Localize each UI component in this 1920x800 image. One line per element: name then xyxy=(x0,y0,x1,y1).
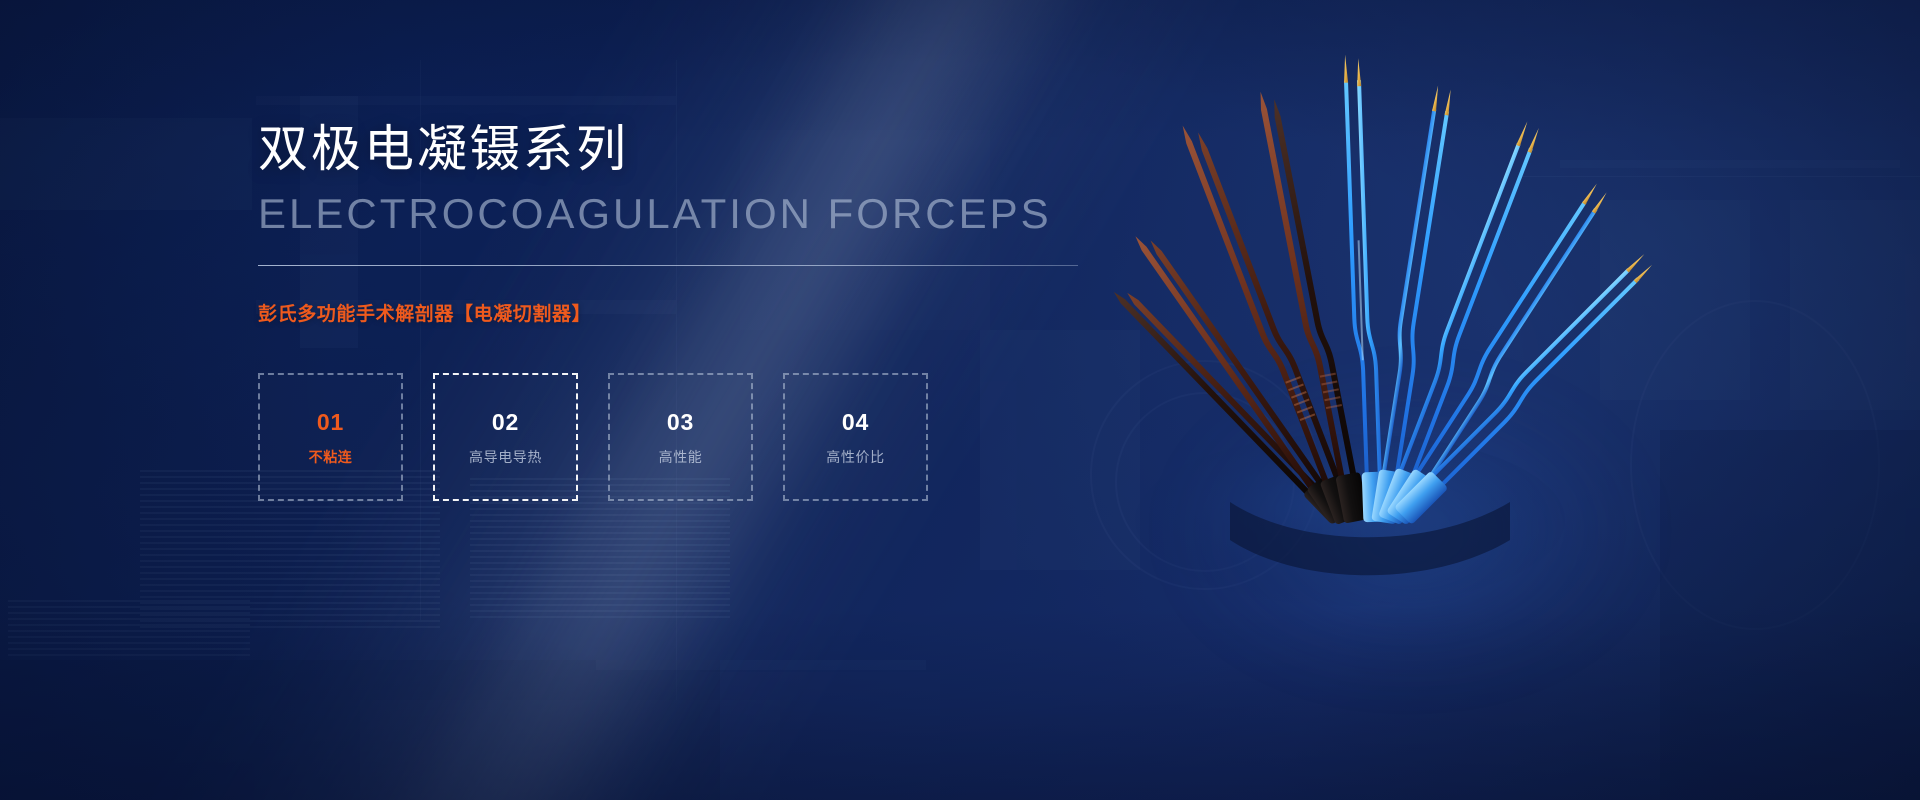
feature-box-02[interactable]: 02 高导电导热 xyxy=(433,373,578,501)
feature-label: 不粘连 xyxy=(309,450,353,464)
feature-label: 高导电导热 xyxy=(469,450,542,464)
forceps-blue-2 xyxy=(1367,85,1464,524)
feature-box-04[interactable]: 04 高性价比 xyxy=(783,373,928,501)
page-title: 双极电凝镊系列 xyxy=(258,120,1098,179)
forceps-blue-5 xyxy=(1391,253,1663,525)
product-glow xyxy=(1180,380,1640,680)
forceps-blue-1 xyxy=(1343,54,1387,523)
feature-label: 高性价比 xyxy=(826,450,884,464)
product-hero-banner: 双极电凝镊系列 ELECTROCOAGULATION FORCEPS 彭氏多功能… xyxy=(0,0,1920,800)
page-title-english: ELECTROCOAGULATION FORCEPS xyxy=(258,191,1098,237)
forceps-copper-1 xyxy=(1180,117,1359,526)
feature-box-03[interactable]: 03 高性能 xyxy=(608,373,753,501)
forceps-product-image xyxy=(1080,40,1640,670)
feature-number: 04 xyxy=(842,411,869,434)
forceps-copper-2 xyxy=(1258,87,1369,524)
feature-number: 02 xyxy=(492,411,519,434)
forceps-blue-3 xyxy=(1374,121,1552,525)
feature-list: 01 不粘连 02 高导电导热 03 高性能 04 高性价比 xyxy=(258,373,1098,501)
feature-number: 03 xyxy=(667,411,694,434)
forceps-dark-1 xyxy=(1110,282,1346,525)
product-subtitle: 彭氏多功能手术解剖器【电凝切割器】 xyxy=(258,299,1098,326)
feature-box-01[interactable]: 01 不粘连 xyxy=(258,373,403,501)
hero-content: 双极电凝镊系列 ELECTROCOAGULATION FORCEPS 彭氏多功能… xyxy=(258,120,1098,501)
forceps-dark-2 xyxy=(1131,227,1348,525)
title-divider xyxy=(258,265,1078,266)
feature-number: 01 xyxy=(317,411,344,434)
forceps-blue-4 xyxy=(1383,183,1620,526)
feature-label: 高性能 xyxy=(659,450,703,464)
